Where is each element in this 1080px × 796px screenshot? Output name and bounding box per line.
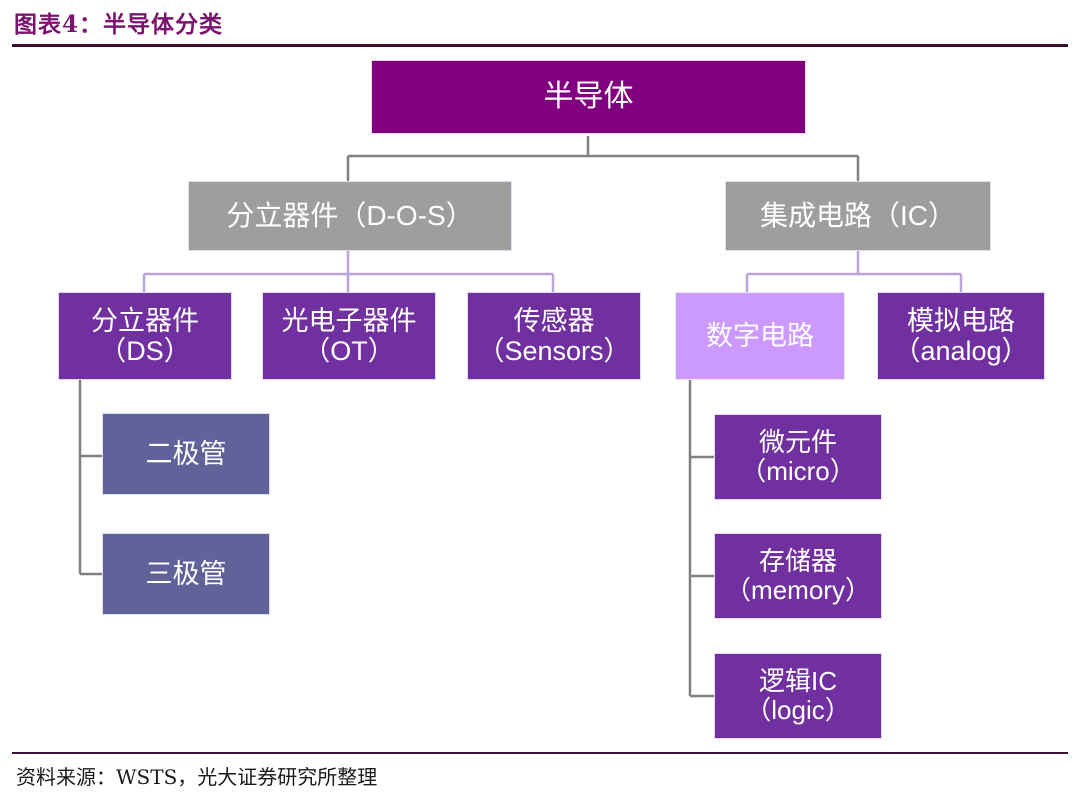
node-integrated-circuit-group[interactable]: 集成电路（IC） [725, 181, 991, 251]
node-label: 二极管 [146, 439, 227, 469]
node-label-line2: （DS） [99, 336, 191, 366]
node-microcomponent[interactable]: 微元件 （micro） [714, 414, 882, 500]
tree-connectors [0, 46, 1080, 752]
node-label: 半导体 [544, 80, 634, 114]
node-label-line1: 模拟电路 [907, 306, 1015, 336]
node-diode[interactable]: 二极管 [102, 413, 270, 495]
node-optoelectronics-ot[interactable]: 光电子器件 （OT） [262, 292, 436, 380]
node-discrete-device-group[interactable]: 分立器件（D-O-S） [188, 181, 512, 251]
node-label-line2: （analog） [893, 336, 1028, 366]
node-label: 三极管 [146, 559, 227, 589]
node-sensors[interactable]: 传感器 （Sensors） [467, 292, 641, 380]
page-title: 图表4：半导体分类 [14, 5, 223, 39]
node-label: 数字电路 [706, 321, 814, 351]
node-label-line2: （Sensors） [477, 336, 630, 366]
node-label-line1: 分立器件 [91, 306, 199, 336]
node-label-line2: （memory） [725, 576, 871, 605]
node-label-line1: 传感器 [514, 306, 595, 336]
node-memory[interactable]: 存储器 （memory） [714, 533, 882, 619]
node-discrete-ds[interactable]: 分立器件 （DS） [58, 292, 232, 380]
node-label-line1: 光电子器件 [282, 306, 417, 336]
footer-divider [12, 752, 1068, 754]
node-label-line2: （logic） [745, 696, 850, 725]
node-analog-circuit[interactable]: 模拟电路 （analog） [877, 292, 1045, 380]
node-label: 集成电路（IC） [760, 200, 956, 231]
node-label-line1: 逻辑IC [759, 667, 837, 696]
node-label-line1: 存储器 [759, 547, 837, 576]
node-triode[interactable]: 三极管 [102, 533, 270, 615]
node-semiconductor[interactable]: 半导体 [371, 60, 806, 134]
source-note: 资料来源：WSTS，光大证券研究所整理 [16, 761, 377, 790]
semiconductor-classification-diagram: 半导体 分立器件（D-O-S） 集成电路（IC） 分立器件 （DS） 光电子器件… [0, 46, 1080, 752]
node-digital-circuit[interactable]: 数字电路 [675, 292, 845, 380]
node-label-line2: （micro） [740, 457, 856, 486]
chart-header: 图表4：半导体分类 [0, 0, 1080, 46]
node-label-line1: 微元件 [759, 428, 837, 457]
node-label-line2: （OT） [303, 336, 395, 366]
node-label: 分立器件（D-O-S） [226, 200, 473, 231]
node-logic-ic[interactable]: 逻辑IC （logic） [714, 653, 882, 739]
